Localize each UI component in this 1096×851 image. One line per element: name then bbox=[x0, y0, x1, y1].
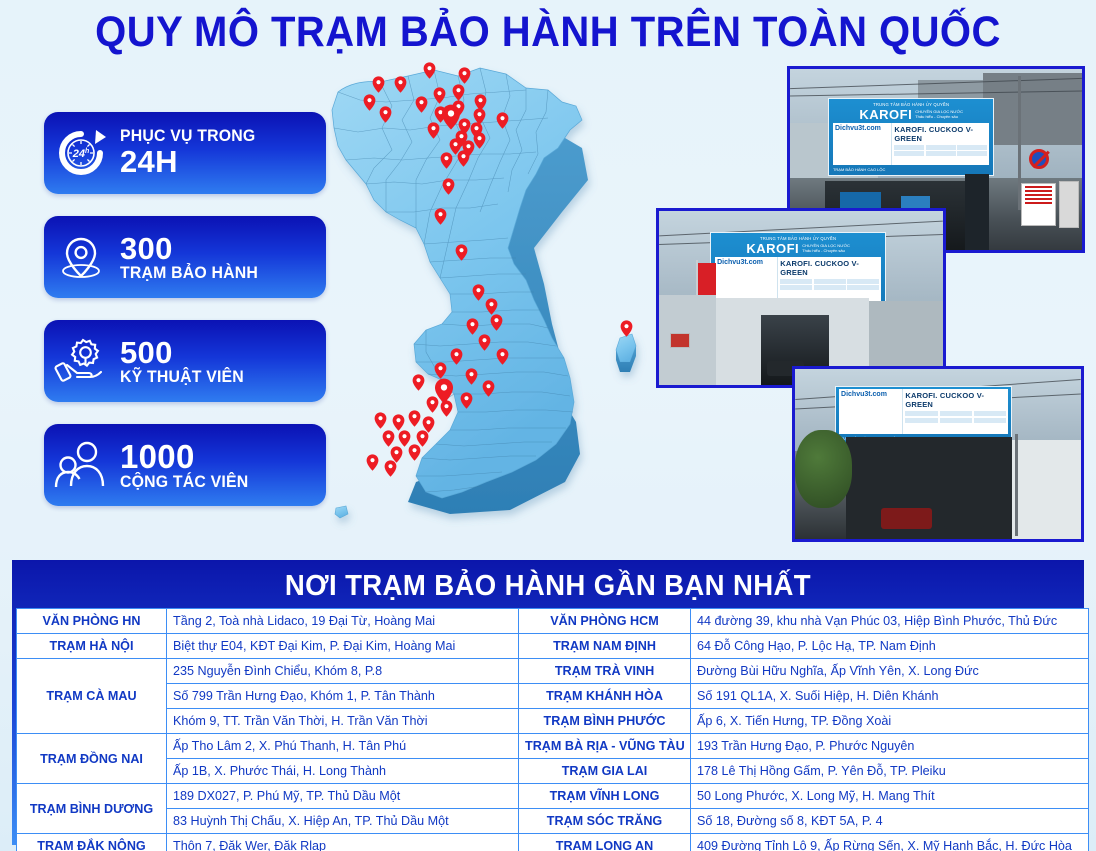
station-address-right: Đường Bùi Hữu Nghĩa, Ấp Vĩnh Yên, X. Lon… bbox=[691, 659, 1089, 684]
table-row: TRẠM HÀ NỘIBiệt thự E04, KĐT Đại Kim, P.… bbox=[17, 634, 1089, 659]
station-address-left: Thôn 7, Đăk Wer, Đăk Rlap bbox=[167, 834, 519, 851]
station-name-left: VĂN PHÒNG HN bbox=[17, 609, 167, 634]
station-address-left: Biệt thự E04, KĐT Đại Kim, P. Đại Kim, H… bbox=[167, 634, 519, 659]
sign-brand: KAROFI bbox=[746, 242, 799, 255]
table-header: NƠI TRẠM BẢO HÀNH GẦN BẠN NHẤT bbox=[16, 564, 1080, 608]
station-name-right: TRẠM GIA LAI bbox=[519, 759, 691, 784]
sign-partner: Dichvu3t.com bbox=[841, 391, 900, 398]
station-address-right: 50 Long Phước, X. Long Mỹ, H. Mang Thít bbox=[691, 784, 1089, 809]
stat-label-bottom: CỘNG TÁC VIÊN bbox=[120, 474, 248, 491]
gear-hand-icon bbox=[44, 335, 118, 387]
table-row: TRẠM ĐỒNG NAIẤp Tho Lâm 2, X. Phú Thanh,… bbox=[17, 734, 1089, 759]
station-name-left: TRẠM ĐẮK NÔNG bbox=[17, 834, 167, 851]
station-address-left: 189 DX027, P. Phú Mỹ, TP. Thủ Dầu Một bbox=[167, 784, 519, 809]
station-address-right: 64 Đỗ Công Hạo, P. Lộc Hạ, TP. Nam Định bbox=[691, 634, 1089, 659]
storefront-photo-2[interactable]: TRUNG TÂM BẢO HÀNH ỦY QUYỀN KAROFI CHUYÊ… bbox=[656, 208, 946, 388]
station-name-left: TRẠM BÌNH DƯƠNG bbox=[17, 784, 167, 834]
people-icon bbox=[44, 439, 118, 491]
storefront-photo-3[interactable]: Dichvu3t.com KAROFI. CUCKOO V-GREEN TRẠM… bbox=[792, 366, 1084, 542]
svg-text:24h: 24h bbox=[72, 148, 90, 160]
stat-label-bottom: TRẠM BẢO HÀNH bbox=[120, 265, 258, 282]
station-name-right: TRẠM KHÁNH HÒA bbox=[519, 684, 691, 709]
station-address-left: Ấp Tho Lâm 2, X. Phú Thanh, H. Tân Phú bbox=[167, 734, 519, 759]
table-row: TRẠM BÌNH DƯƠNG189 DX027, P. Phú Mỹ, TP.… bbox=[17, 784, 1089, 809]
nearest-stations-section: NƠI TRẠM BẢO HÀNH GẦN BẠN NHẤT VĂN PHÒNG… bbox=[12, 560, 1084, 845]
table-row: Số 799 Trần Hưng Đạo, Khóm 1, P. Tân Thà… bbox=[17, 684, 1089, 709]
flag-icon bbox=[696, 263, 716, 294]
page-title-bar: QUY MÔ TRẠM BẢO HÀNH TRÊN TOÀN QUỐC bbox=[0, 8, 1096, 57]
station-address-left: 235 Nguyễn Đình Chiểu, Khóm 8, P.8 bbox=[167, 659, 519, 684]
stat-value: 1000 bbox=[120, 440, 254, 474]
station-address-right: Ấp 6, X. Tiến Hưng, TP. Đồng Xoài bbox=[691, 709, 1089, 734]
sign-partner: Dichvu3t.com bbox=[835, 125, 889, 132]
table-row: 83 Huỳnh Thị Chấu, X. Hiệp An, TP. Thủ D… bbox=[17, 809, 1089, 834]
station-address-left: Khóm 9, TT. Trần Văn Thời, H. Trần Văn T… bbox=[167, 709, 519, 734]
station-name-right: VĂN PHÒNG HCM bbox=[519, 609, 691, 634]
station-name-left: TRẠM ĐỒNG NAI bbox=[17, 734, 167, 784]
station-address-right: 44 đường 39, khu nhà Vạn Phúc 03, Hiệp B… bbox=[691, 609, 1089, 634]
station-address-left: 83 Huỳnh Thị Chấu, X. Hiệp An, TP. Thủ D… bbox=[167, 809, 519, 834]
sign-station: TRẠM BẢO HÀNH CAO LỘC bbox=[833, 167, 885, 172]
stat-card-list: 24h PHỤC VỤ TRONG 24H 300 TRẠM BẢO HÀNH bbox=[44, 112, 326, 528]
station-address-left: Số 799 Trần Hưng Đạo, Khóm 1, P. Tân Thà… bbox=[167, 684, 519, 709]
station-address-right: 178 Lê Thị Hồng Gấm, P. Yên Đỗ, TP. Plei… bbox=[691, 759, 1089, 784]
vietnam-map[interactable] bbox=[330, 62, 660, 542]
stat-card-300-stations[interactable]: 300 TRẠM BẢO HÀNH bbox=[44, 216, 326, 298]
clock-24h-icon: 24h bbox=[44, 128, 118, 178]
station-address-right: 409 Đường Tỉnh Lộ 9, Ấp Rừng Sến, X. Mỹ … bbox=[691, 834, 1089, 851]
table-row: TRẠM CÀ MAU235 Nguyễn Đình Chiểu, Khóm 8… bbox=[17, 659, 1089, 684]
table-row: Ấp 1B, X. Phước Thái, H. Long ThànhTRẠM … bbox=[17, 759, 1089, 784]
station-name-left: TRẠM HÀ NỘI bbox=[17, 634, 167, 659]
station-name-right: TRẠM NAM ĐỊNH bbox=[519, 634, 691, 659]
map-pin-icon bbox=[44, 231, 118, 283]
table-row: VĂN PHÒNG HNTầng 2, Toà nhà Lidaco, 19 Đ… bbox=[17, 609, 1089, 634]
stat-card-500-technicians[interactable]: 500 KỸ THUẬT VIÊN bbox=[44, 320, 326, 402]
stations-table-body: VĂN PHÒNG HNTầng 2, Toà nhà Lidaco, 19 Đ… bbox=[17, 609, 1089, 851]
sign-brands: KAROFI. CUCKOO V-GREEN bbox=[905, 391, 1006, 409]
station-name-left: TRẠM CÀ MAU bbox=[17, 659, 167, 734]
sign-brands: KAROFI. CUCKOO V-GREEN bbox=[894, 125, 987, 143]
page-title: QUY MÔ TRẠM BẢO HÀNH TRÊN TOÀN QUỐC bbox=[38, 8, 1057, 57]
sign-brands: KAROFI. CUCKOO V-GREEN bbox=[780, 259, 879, 277]
stat-label-bottom: KỸ THUẬT VIÊN bbox=[120, 369, 244, 386]
sign-sub: Thấu hiểu - Chuyên sâu bbox=[802, 248, 850, 253]
station-name-right: TRẠM TRÀ VINH bbox=[519, 659, 691, 684]
sign-brand: KAROFI bbox=[859, 108, 912, 121]
table-row: TRẠM ĐẮK NÔNGThôn 7, Đăk Wer, Đăk RlapTR… bbox=[17, 834, 1089, 851]
station-address-right: Số 191 QL1A, X. Suối Hiệp, H. Diên Khánh bbox=[691, 684, 1089, 709]
station-name-right: TRẠM VĨNH LONG bbox=[519, 784, 691, 809]
stations-table: VĂN PHÒNG HNTầng 2, Toà nhà Lidaco, 19 Đ… bbox=[16, 608, 1089, 851]
station-address-left: Ấp 1B, X. Phước Thái, H. Long Thành bbox=[167, 759, 519, 784]
station-name-right: TRẠM BÌNH PHƯỚC bbox=[519, 709, 691, 734]
station-name-right: TRẠM SÓC TRĂNG bbox=[519, 809, 691, 834]
stat-value: 24H bbox=[120, 146, 261, 178]
sign-sub: Thấu hiểu - Chuyên sâu bbox=[915, 114, 963, 119]
station-address-right: Số 18, Đường số 8, KĐT 5A, P. 4 bbox=[691, 809, 1089, 834]
station-address-right: 193 Trần Hưng Đạo, P. Phước Nguyên bbox=[691, 734, 1089, 759]
table-row: Khóm 9, TT. Trần Văn Thời, H. Trần Văn T… bbox=[17, 709, 1089, 734]
stat-value: 300 bbox=[120, 233, 264, 265]
stat-label-top: PHỤC VỤ TRONG bbox=[120, 128, 255, 145]
table-heading: NƠI TRẠM BẢO HÀNH GẦN BẠN NHẤT bbox=[285, 570, 811, 603]
station-address-left: Tầng 2, Toà nhà Lidaco, 19 Đại Từ, Hoàng… bbox=[167, 609, 519, 634]
stat-card-24h[interactable]: 24h PHỤC VỤ TRONG 24H bbox=[44, 112, 326, 194]
station-name-right: TRẠM LONG AN bbox=[519, 834, 691, 851]
station-name-right: TRẠM BÀ RỊA - VŨNG TÀU bbox=[519, 734, 691, 759]
sign-partner: Dichvu3t.com bbox=[717, 259, 775, 266]
stat-card-1000-collaborators[interactable]: 1000 CỘNG TÁC VIÊN bbox=[44, 424, 326, 506]
stat-value: 500 bbox=[120, 337, 249, 369]
